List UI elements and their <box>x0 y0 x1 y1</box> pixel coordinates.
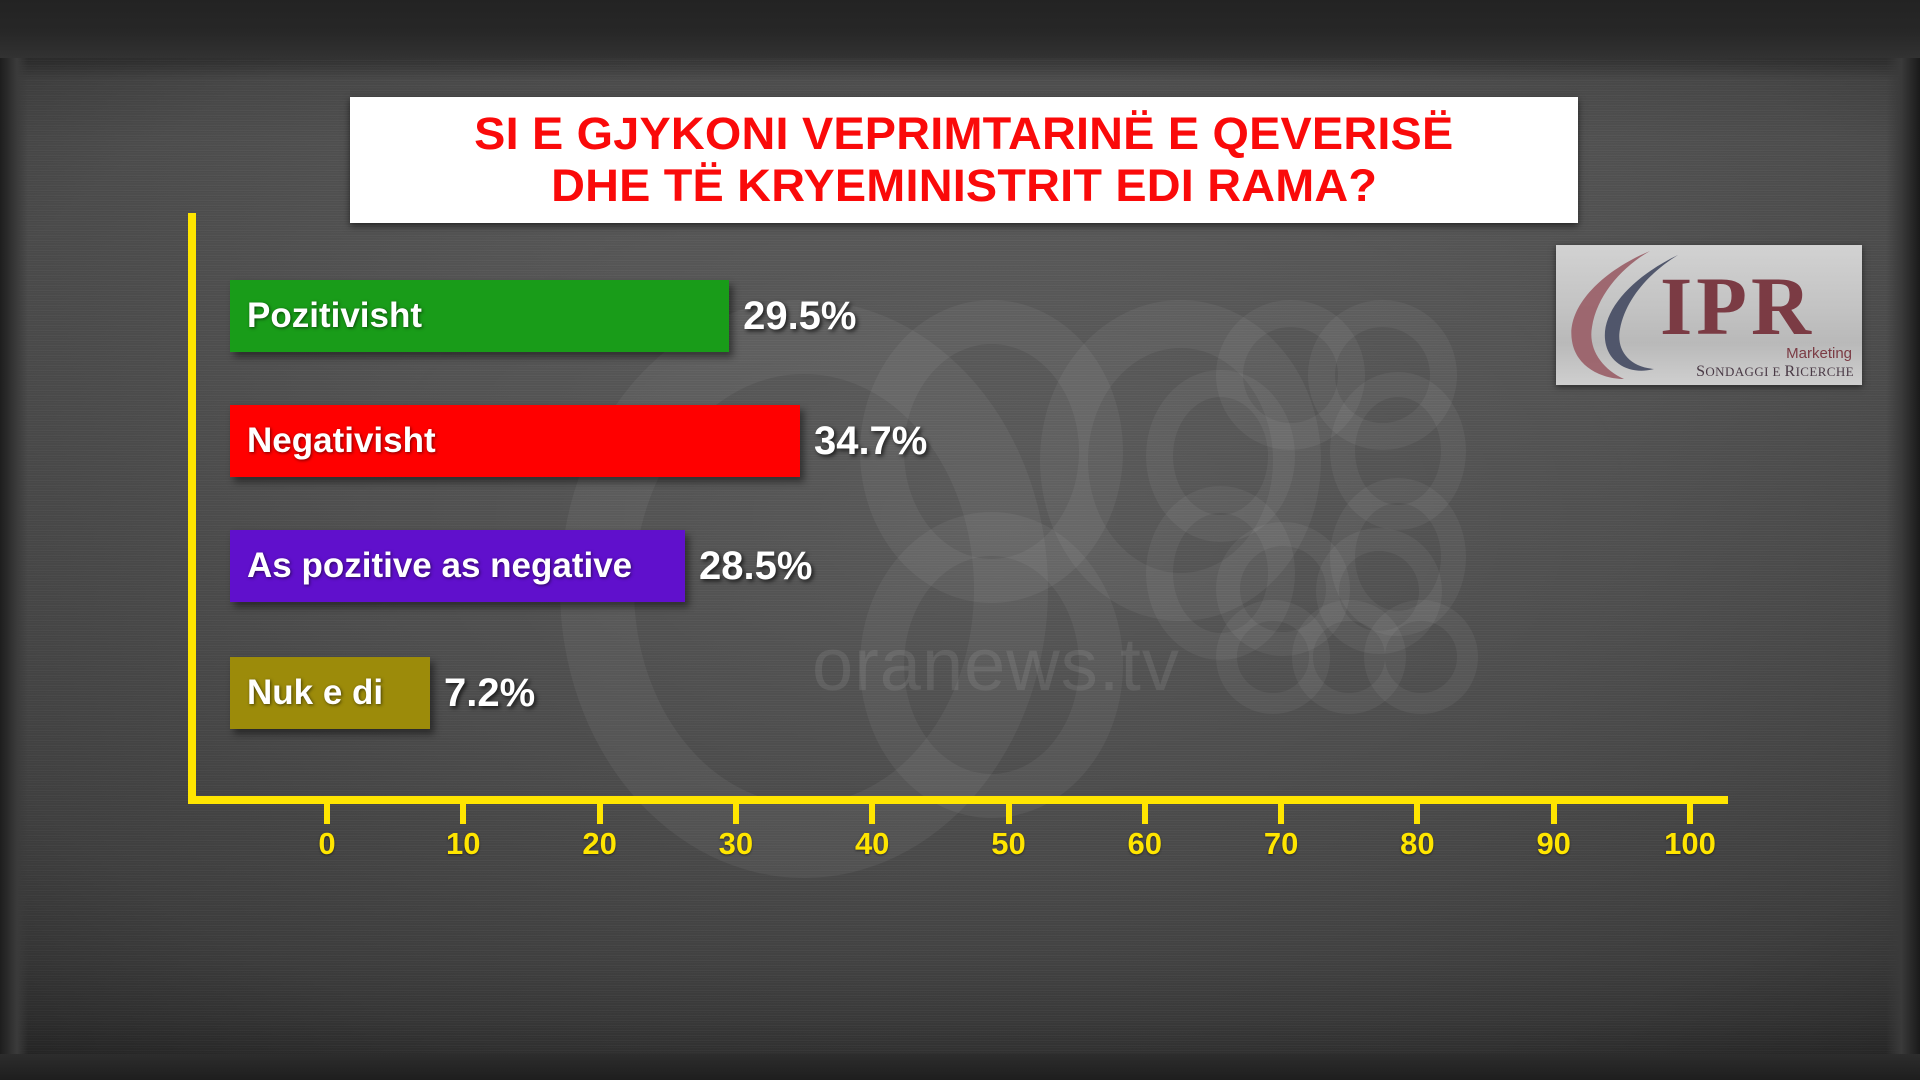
x-axis-tick-label-0: 0 <box>318 826 335 862</box>
y-axis-line <box>188 213 196 803</box>
ipr-logo: IPR Marketing SONDAGGI E RICERCHE <box>1556 245 1862 385</box>
x-axis-tick-70 <box>1278 804 1284 824</box>
bar-value-label: 7.2% <box>444 657 535 729</box>
ipr-tagline-s: S <box>1696 363 1705 380</box>
ipr-logo-text: IPR <box>1660 265 1815 348</box>
bar-row: Pozitivisht29.5% <box>230 280 1730 352</box>
x-axis-tick-label-90: 90 <box>1536 826 1570 862</box>
bar-label: Negativisht <box>230 421 436 461</box>
x-axis-tick-20 <box>597 804 603 824</box>
x-axis-tick-40 <box>869 804 875 824</box>
background-top-band <box>0 0 1920 58</box>
x-axis-tick-30 <box>733 804 739 824</box>
ipr-tagline-ondaggi: ONDAGGI E <box>1705 364 1784 379</box>
chart-stage: oranews.tv SI E GJYKONI VEPRIMTARINË E Q… <box>0 0 1920 1080</box>
x-axis-tick-label-50: 50 <box>991 826 1025 862</box>
bar-4[interactable]: Nuk e di <box>230 657 430 729</box>
bar-2[interactable]: Negativisht <box>230 405 800 477</box>
bar-row: Nuk e di7.2% <box>230 657 1730 729</box>
bar-label: Nuk e di <box>230 673 383 713</box>
bar-label: As pozitive as negative <box>230 546 632 586</box>
ipr-tagline-icerche: ICERCHE <box>1796 364 1854 379</box>
x-axis-tick-80 <box>1414 804 1420 824</box>
x-axis-tick-0 <box>324 804 330 824</box>
x-axis-tick-100 <box>1687 804 1693 824</box>
chart-title-line-1: SI E GJYKONI VEPRIMTARINË E QEVERISË <box>474 108 1453 160</box>
chart-title-line-2: DHE TË KRYEMINISTRIT EDI RAMA? <box>551 160 1377 212</box>
x-axis-tick-label-70: 70 <box>1264 826 1298 862</box>
bar-row: As pozitive as negative28.5% <box>230 530 1730 602</box>
bar-value-label: 34.7% <box>814 405 927 477</box>
x-axis-tick-label-40: 40 <box>855 826 889 862</box>
bar-label: Pozitivisht <box>230 296 422 336</box>
x-axis-tick-50 <box>1006 804 1012 824</box>
x-axis-line <box>188 796 1728 804</box>
ipr-tagline-r: R <box>1785 363 1796 380</box>
x-axis-tick-label-10: 10 <box>446 826 480 862</box>
background-right-edge <box>1886 0 1920 1080</box>
bar-3[interactable]: As pozitive as negative <box>230 530 685 602</box>
bar-1[interactable]: Pozitivisht <box>230 280 729 352</box>
x-axis-tick-label-80: 80 <box>1400 826 1434 862</box>
background-bottom-band <box>0 1054 1920 1080</box>
x-axis-tick-label-30: 30 <box>719 826 753 862</box>
ipr-logo-tagline-sondaggi: SONDAGGI E RICERCHE <box>1696 363 1854 381</box>
x-axis-tick-90 <box>1551 804 1557 824</box>
bar-row: Negativisht34.7% <box>230 405 1730 477</box>
ipr-logo-tagline-marketing: Marketing <box>1786 345 1852 362</box>
x-axis-tick-10 <box>460 804 466 824</box>
background-left-edge <box>0 0 28 1080</box>
x-axis-tick-60 <box>1142 804 1148 824</box>
bar-value-label: 28.5% <box>699 530 812 602</box>
x-axis-tick-label-60: 60 <box>1128 826 1162 862</box>
bar-value-label: 29.5% <box>743 280 856 352</box>
x-axis-tick-label-100: 100 <box>1664 826 1716 862</box>
x-axis-tick-label-20: 20 <box>582 826 616 862</box>
chart-title-box: SI E GJYKONI VEPRIMTARINË E QEVERISË DHE… <box>350 97 1578 223</box>
